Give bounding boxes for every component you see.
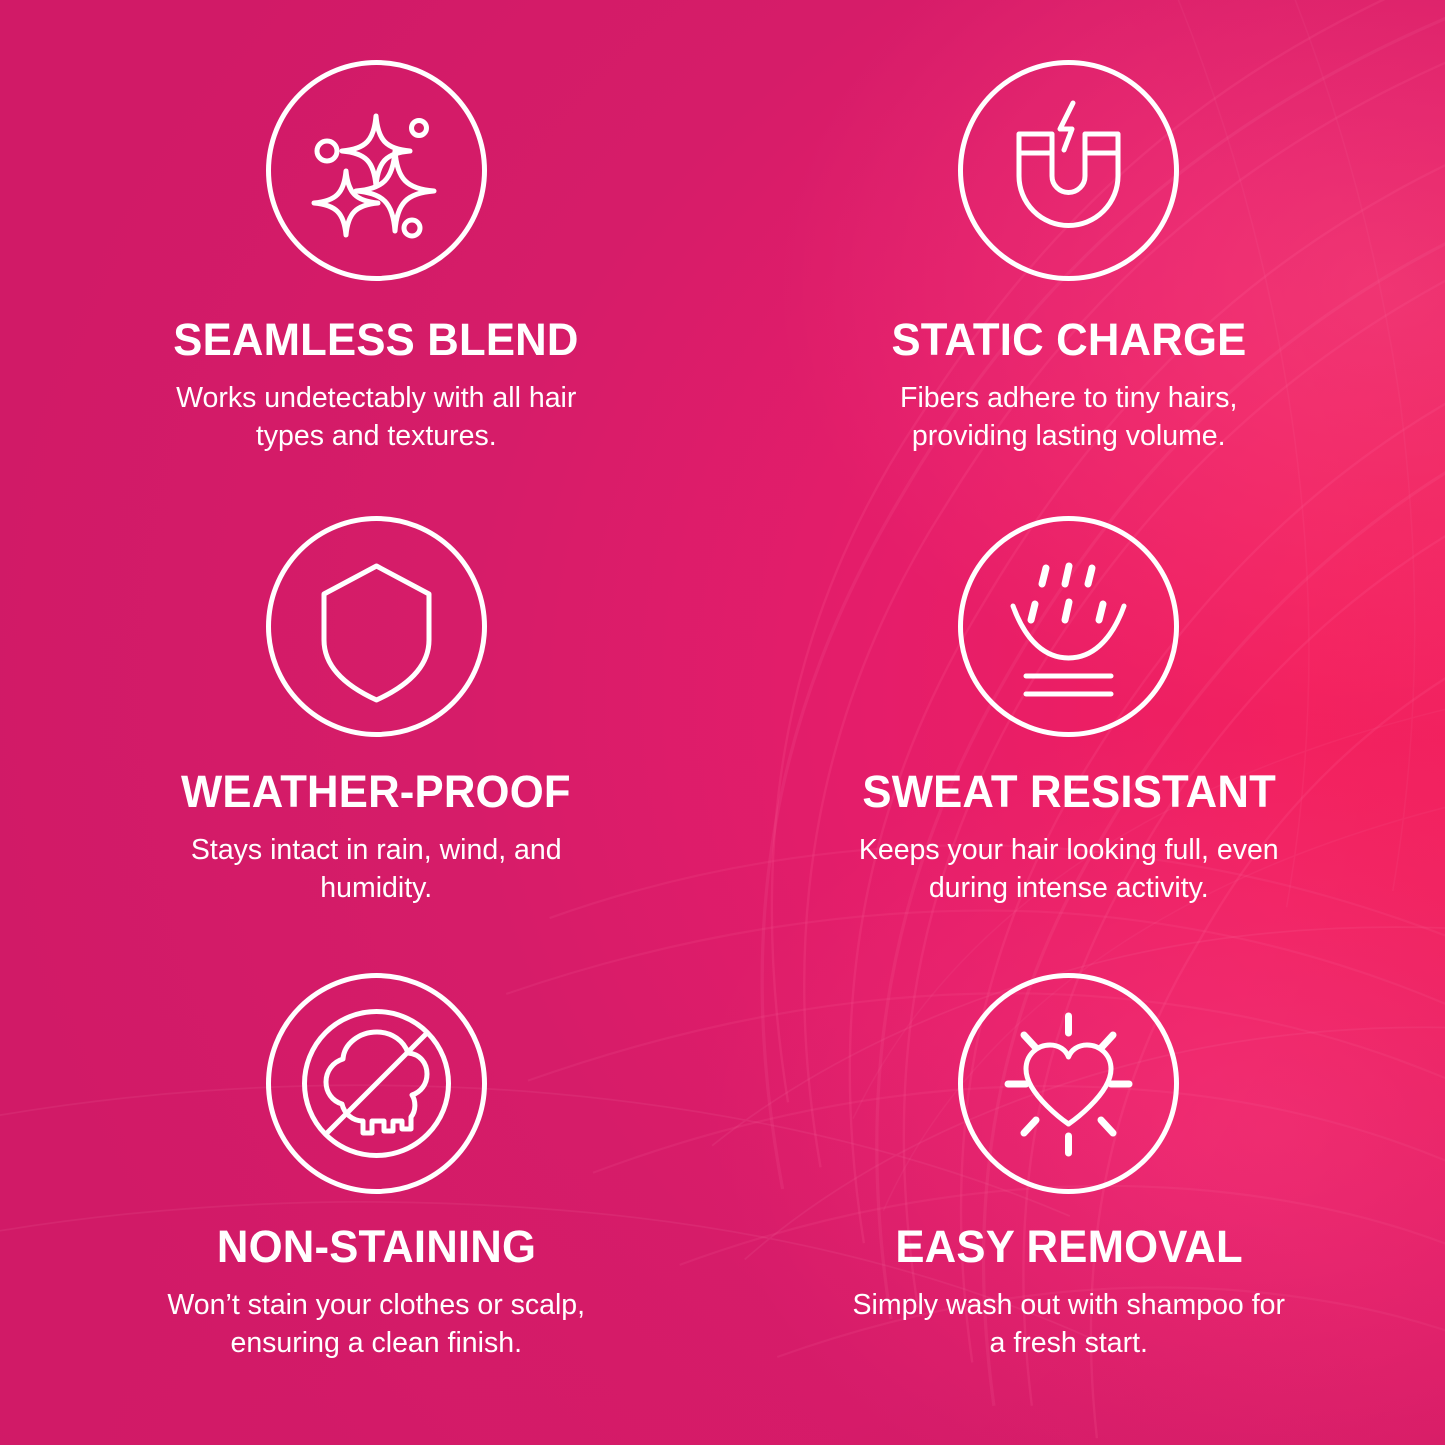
feature-description: Stays intact in rain, wind, and humidity… bbox=[151, 832, 601, 908]
feature-title: SWEAT RESISTANT bbox=[862, 769, 1276, 814]
shield-icon bbox=[264, 514, 489, 739]
feature-description: Won’t stain your clothes or scalp, ensur… bbox=[151, 1287, 601, 1363]
feature-card-static-charge: STATIC CHARGE Fibers adhere to tiny hair… bbox=[723, 40, 1416, 496]
feature-title: WEATHER-PROOF bbox=[181, 769, 571, 814]
infographic-canvas: SEAMLESS BLEND Works undetectably with a… bbox=[0, 0, 1445, 1445]
shining-heart-icon bbox=[956, 971, 1181, 1196]
feature-title: SEAMLESS BLEND bbox=[174, 317, 579, 362]
water-repellent-icon bbox=[956, 514, 1181, 739]
feature-card-sweat-resistant: SWEAT RESISTANT Keeps your hair looking … bbox=[723, 496, 1416, 952]
feature-title: NON-STAINING bbox=[217, 1224, 536, 1269]
feature-card-weather-proof: WEATHER-PROOF Stays intact in rain, wind… bbox=[30, 496, 723, 952]
feature-card-seamless-blend: SEAMLESS BLEND Works undetectably with a… bbox=[30, 40, 723, 496]
sparkle-icon bbox=[264, 58, 489, 283]
no-stain-icon bbox=[264, 971, 489, 1196]
feature-title: STATIC CHARGE bbox=[891, 317, 1246, 362]
feature-title: EASY REMOVAL bbox=[895, 1224, 1243, 1269]
feature-description: Fibers adhere to tiny hairs, providing l… bbox=[844, 380, 1294, 456]
feature-card-easy-removal: EASY REMOVAL Simply wash out with shampo… bbox=[723, 953, 1416, 1409]
feature-description: Keeps your hair looking full, even durin… bbox=[844, 832, 1294, 908]
feature-card-non-staining: NON-STAINING Won’t stain your clothes or… bbox=[30, 953, 723, 1409]
magnet-static-icon bbox=[956, 58, 1181, 283]
feature-description: Simply wash out with shampoo for a fresh… bbox=[844, 1287, 1294, 1363]
feature-grid: SEAMLESS BLEND Works undetectably with a… bbox=[0, 0, 1445, 1445]
feature-description: Works undetectably with all hair types a… bbox=[151, 380, 601, 456]
